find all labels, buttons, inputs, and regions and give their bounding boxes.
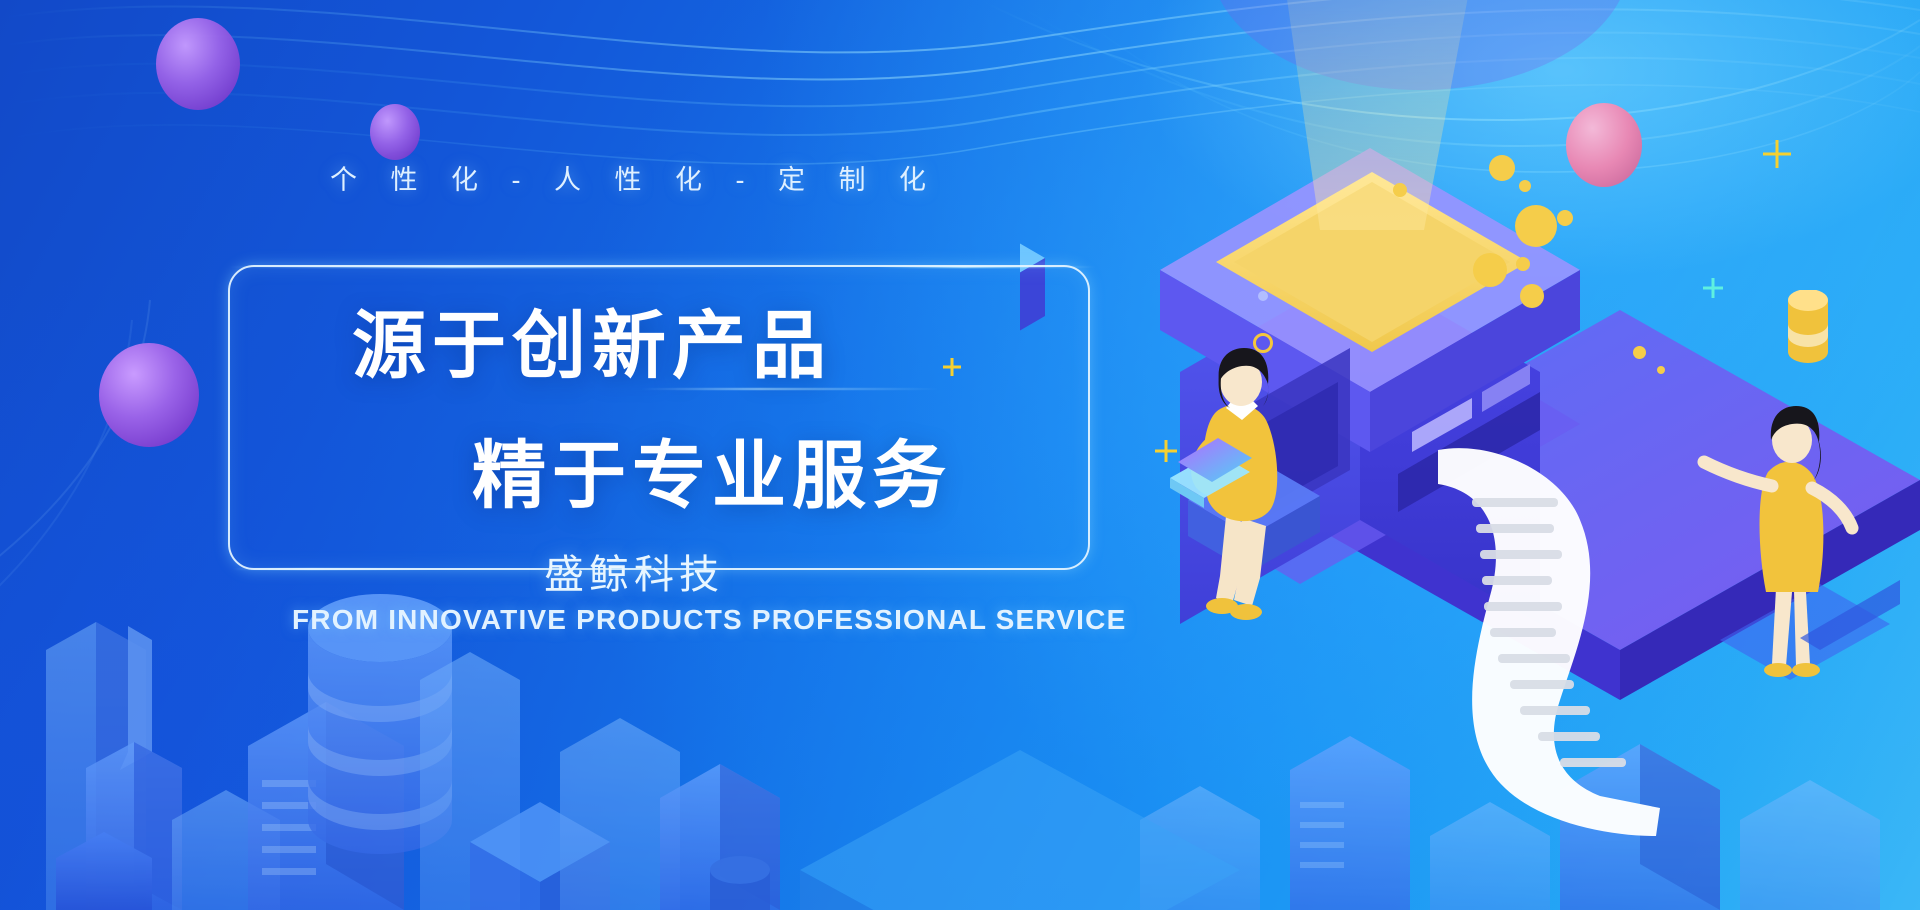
company-name: 盛鲸科技 [544, 542, 724, 600]
dot-decoration [1633, 346, 1646, 359]
hero-banner: 个 性 化 - 人 性 化 - 定 制 化 源于创新产品 精于专业服务 盛鲸科技… [0, 0, 1920, 910]
headline-line-1: 源于创新产品 [352, 286, 832, 393]
dot-decoration [1657, 366, 1665, 374]
tagline: 个 性 化 - 人 性 化 - 定 制 化 [330, 158, 939, 197]
dot-decoration [1258, 291, 1268, 301]
plus-mark-icon [1155, 440, 1177, 462]
banner-content: 个 性 化 - 人 性 化 - 定 制 化 源于创新产品 精于专业服务 盛鲸科技… [0, 0, 1120, 910]
english-subtitle: FROM INNOVATIVE PRODUCTS PROFESSIONAL SE… [292, 604, 1126, 636]
plus-mark-icon [1763, 140, 1791, 168]
cylinder-decoration [1782, 290, 1834, 380]
headline-line-2: 精于专业服务 [472, 416, 952, 523]
ring-circle-icon [1253, 333, 1273, 353]
plus-mark-icon [1703, 278, 1723, 298]
